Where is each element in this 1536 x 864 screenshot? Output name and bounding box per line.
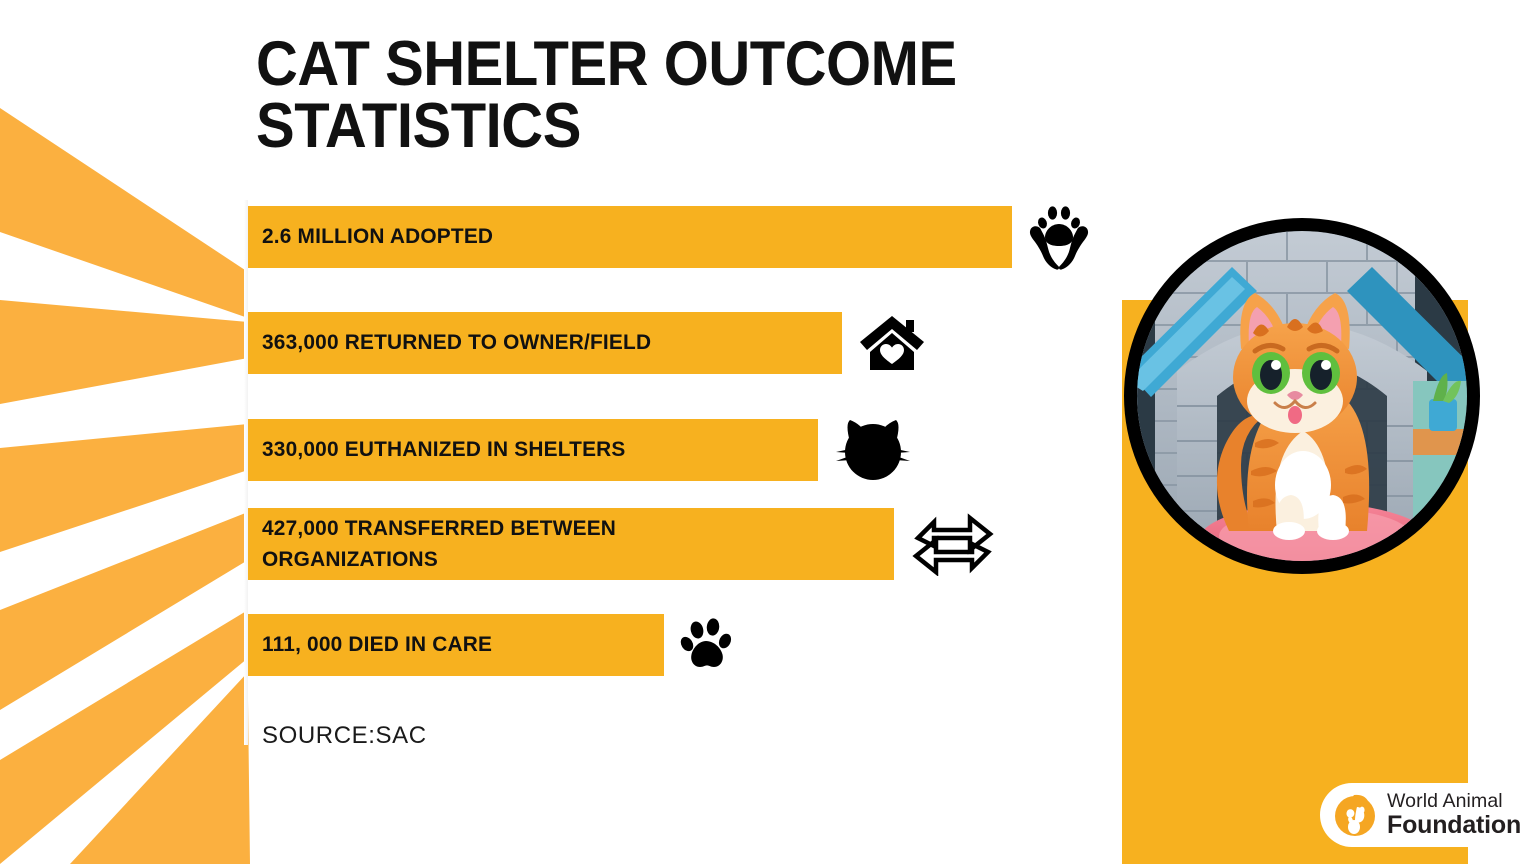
bar-label-died-in-care: 111, 000 DIED IN CARE <box>262 629 492 660</box>
bar-label-adopted: 2.6 MILLION ADOPTED <box>262 221 493 252</box>
table-row: 2.6 MILLION ADOPTED <box>244 204 1144 270</box>
table-row: 111, 000 DIED IN CARE <box>244 614 1144 676</box>
chart-axis-divider <box>244 200 248 745</box>
bar-label-returned-to-owner: 363,000 RETURNED TO OWNER/FIELD <box>262 327 651 358</box>
logo-line-foundation: Foundation <box>1387 813 1521 838</box>
table-row: 363,000 RETURNED TO OWNER/FIELD <box>244 312 1144 374</box>
bar-adopted: 2.6 MILLION ADOPTED <box>244 206 1012 268</box>
bar-died-in-care: 111, 000 DIED IN CARE <box>244 614 664 676</box>
cat-photo-circle <box>1124 218 1480 574</box>
exchange-arrows-icon <box>910 512 996 576</box>
source-label: SOURCE:SAC <box>262 722 427 750</box>
cat-in-shelter-house-illustration <box>1137 231 1467 561</box>
bar-euthanized: 330,000 EUTHANIZED IN SHELTERS <box>244 419 818 481</box>
house-heart-icon <box>858 312 926 374</box>
bar-label-euthanized: 330,000 EUTHANIZED IN SHELTERS <box>262 434 626 465</box>
table-row: 330,000 EUTHANIZED IN SHELTERS <box>244 418 1144 482</box>
table-row: 427,000 TRANSFERRED BETWEEN ORGANIZATION… <box>244 508 1144 580</box>
bar-chart: 2.6 MILLION ADOPTED <box>244 204 1144 676</box>
bar-transferred: 427,000 TRANSFERRED BETWEEN ORGANIZATION… <box>244 508 894 580</box>
animal-silhouettes-emblem-icon <box>1332 792 1378 838</box>
page-title: CAT SHELTER OUTCOME STATISTICS <box>256 34 1139 157</box>
sunburst-rays-decoration <box>0 0 260 864</box>
logo-wordmark: World Animal Foundation <box>1387 792 1521 838</box>
paw-print-icon <box>680 617 736 673</box>
cat-head-icon <box>834 418 912 482</box>
bar-returned-to-owner: 363,000 RETURNED TO OWNER/FIELD <box>244 312 842 374</box>
bar-label-transferred: 427,000 TRANSFERRED BETWEEN ORGANIZATION… <box>262 513 616 575</box>
infographic-canvas: CAT SHELTER OUTCOME STATISTICS 2.6 MILLI… <box>0 0 1536 864</box>
world-animal-foundation-logo[interactable]: World Animal Foundation <box>1320 783 1536 847</box>
logo-line-world-animal: World Animal <box>1387 792 1521 812</box>
hands-holding-paw-icon <box>1028 204 1090 270</box>
